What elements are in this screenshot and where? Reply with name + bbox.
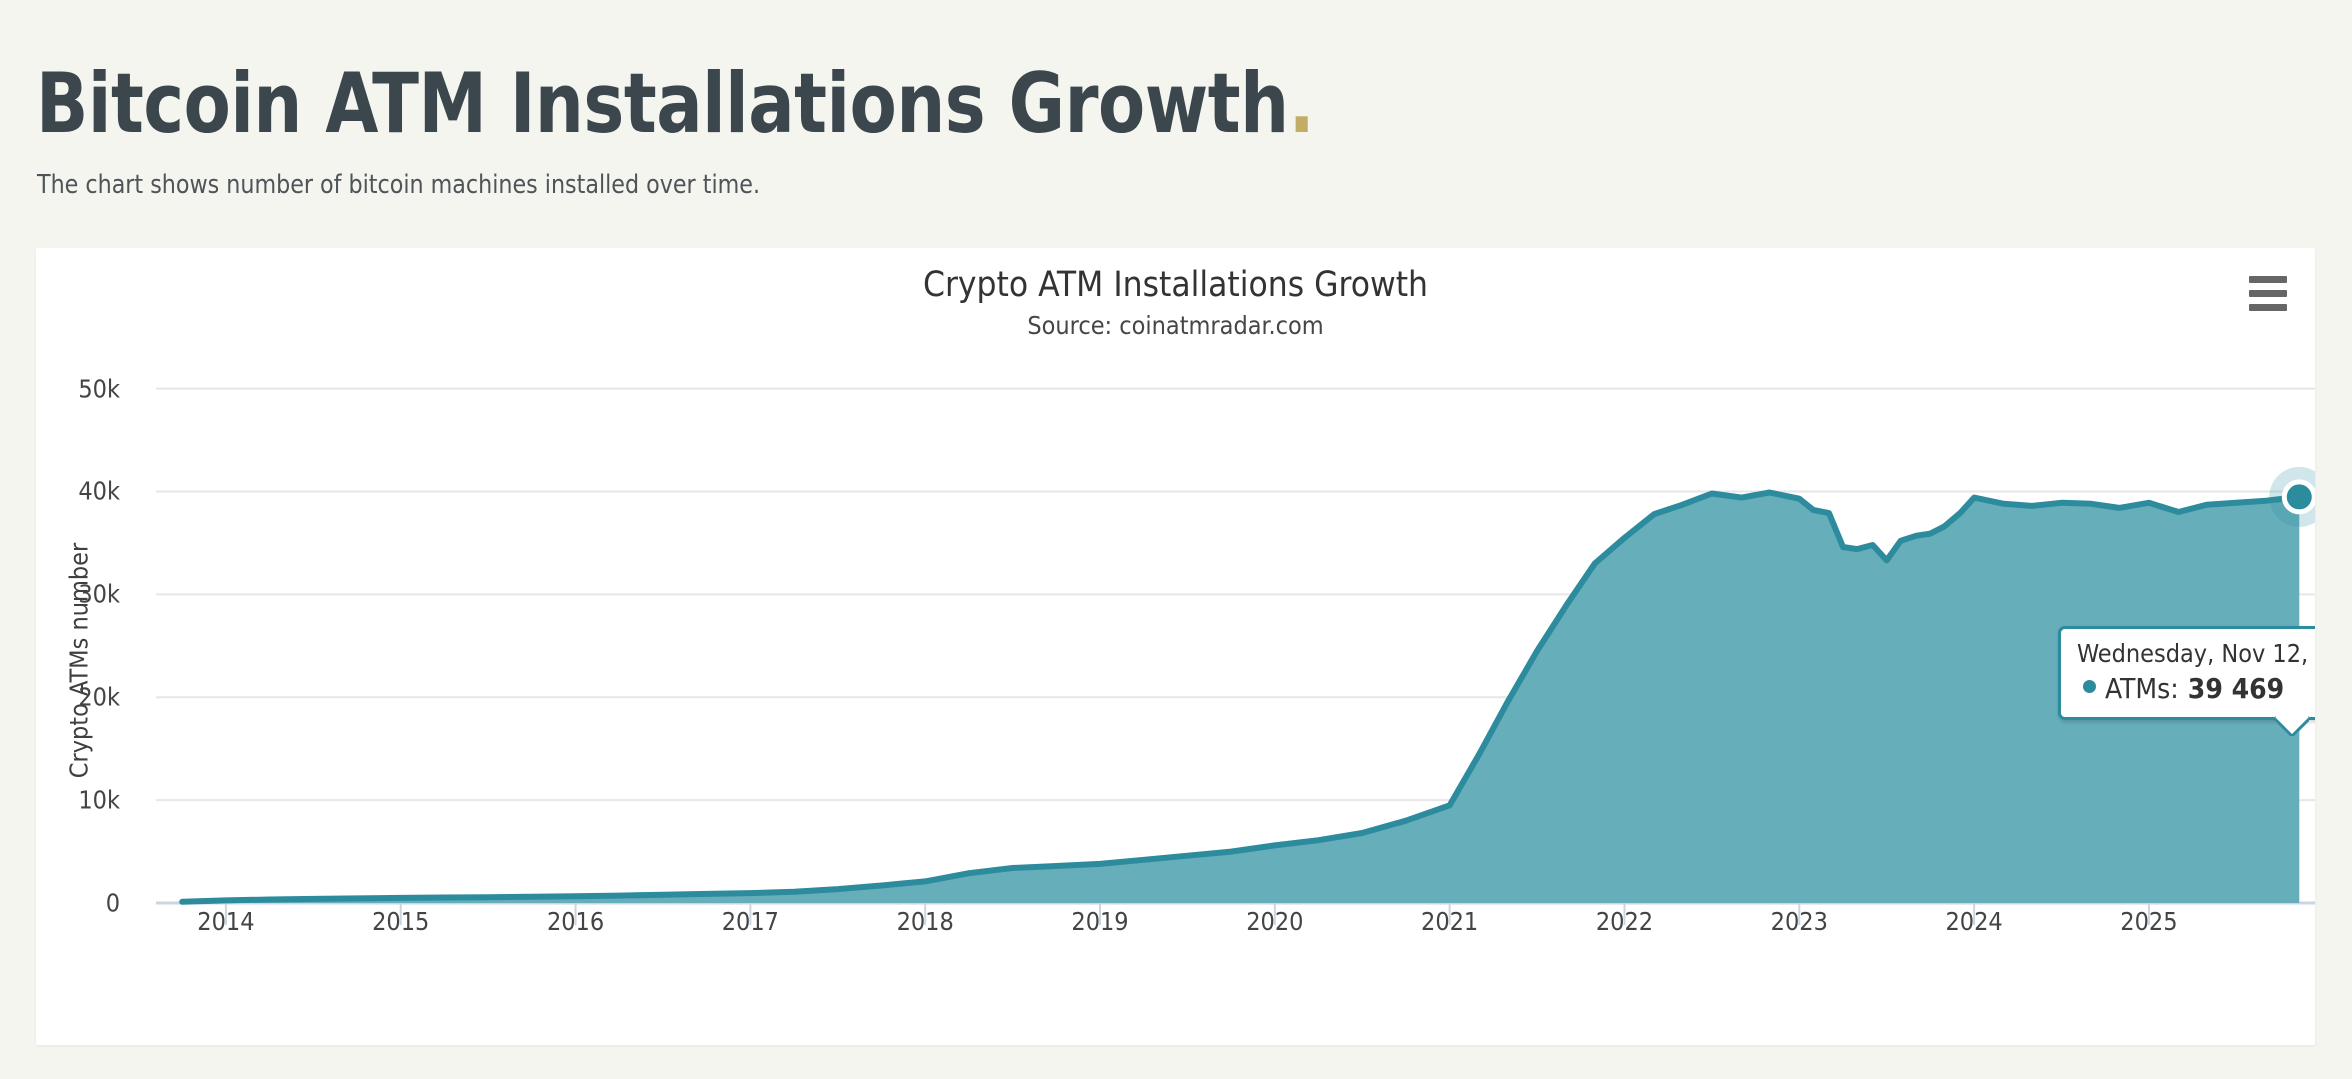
x-axis-tick-label: 2017: [680, 907, 820, 936]
y-axis-tick-label: 10k: [36, 786, 120, 815]
x-axis-tick-label: 2015: [331, 907, 471, 936]
x-axis-tick-label: 2016: [506, 907, 646, 936]
tooltip-series-label: ATMs:: [2105, 671, 2179, 706]
x-axis-tick-label: 2025: [2079, 907, 2219, 936]
x-axis-tick-label: 2019: [1030, 907, 1170, 936]
y-axis-tick-label: 40k: [36, 477, 120, 506]
tooltip-series-bullet-icon: [2083, 680, 2096, 693]
x-axis-tick-label: 2014: [156, 907, 296, 936]
x-axis-tick-label: 2018: [855, 907, 995, 936]
y-axis-tick-label: 30k: [36, 580, 120, 609]
x-axis-tick-label: 2021: [1380, 907, 1520, 936]
x-axis-tick-label: 2023: [1729, 907, 1869, 936]
page-title-accent-dot: .: [1289, 55, 1315, 152]
chart-tooltip: Wednesday, Nov 12, 2025 ATMs: 39 469: [2058, 626, 2315, 720]
page-subtitle: The chart shows number of bitcoin machin…: [37, 170, 760, 200]
y-axis-tick-label: 50k: [36, 374, 120, 403]
y-axis-tick-label: 20k: [36, 683, 120, 712]
page-title-text: Bitcoin ATM Installations Growth: [36, 55, 1289, 152]
x-axis-tick-label: 2024: [1904, 907, 2044, 936]
chart-card: Crypto ATM Installations Growth Source: …: [36, 248, 2315, 1045]
page-title: Bitcoin ATM Installations Growth.: [36, 58, 1314, 151]
x-axis-tick-label: 2022: [1554, 907, 1694, 936]
tooltip-tail: [2275, 716, 2309, 736]
tooltip-date: Wednesday, Nov 12, 2025: [2077, 638, 2315, 669]
y-axis-tick-label: 0: [36, 889, 120, 918]
chart-plot-area: Crypto ATMs number 010k20k30k40k50k 2014…: [36, 248, 2315, 1045]
tooltip-series-row: ATMs: 39 469: [2077, 671, 2315, 706]
tooltip-series-value: 39 469: [2188, 671, 2284, 706]
page-root: Bitcoin ATM Installations Growth. The ch…: [0, 0, 2352, 1079]
x-axis-tick-label: 2020: [1205, 907, 1345, 936]
